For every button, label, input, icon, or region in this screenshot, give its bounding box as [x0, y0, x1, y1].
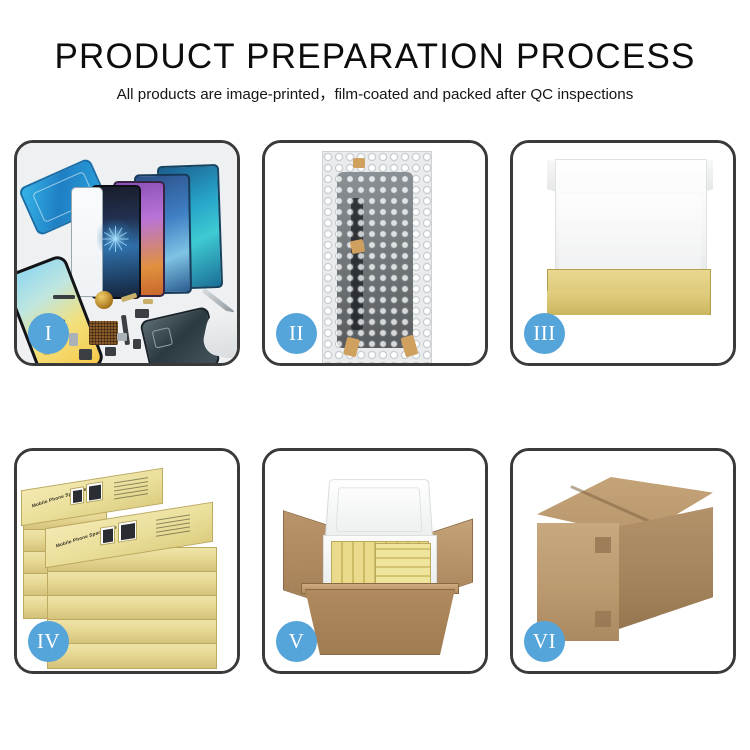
carton-tab-icon: [595, 537, 611, 553]
part-icon: [133, 339, 141, 349]
stacked-box-icon: [47, 595, 217, 621]
process-step-2: II: [262, 140, 488, 366]
product-preparation-infographic: PRODUCT PREPARATION PROCESS All products…: [0, 0, 750, 750]
carton-front-icon: [305, 589, 455, 655]
tape-icon: [353, 158, 365, 168]
process-step-4: Mobile Phone Spare Parts Mobile Phone Sp…: [14, 448, 240, 674]
speaker-component-icon: [95, 291, 113, 309]
header: PRODUCT PREPARATION PROCESS All products…: [0, 36, 750, 105]
foam-lid-icon: [325, 479, 434, 541]
product-swatch-icon: [118, 520, 137, 543]
tape-icon: [343, 337, 360, 358]
chip-grid-component-icon: [89, 321, 118, 345]
kraft-box-front-icon: [547, 291, 709, 315]
product-swatch-icon: [100, 525, 115, 545]
part-icon: [105, 347, 116, 356]
packed-boxes-icon: [375, 543, 431, 585]
carton-side-face-icon: [619, 507, 713, 629]
process-step-5: V: [262, 448, 488, 674]
part-icon: [143, 299, 153, 304]
bubble-wrap-package-icon: [322, 151, 432, 363]
step-badge-6: VI: [524, 621, 565, 662]
step-badge-3: III: [524, 313, 565, 354]
foam-sheet-icon: [559, 195, 701, 273]
tape-icon: [350, 239, 365, 254]
part-icon: [117, 333, 127, 341]
step-badge-1: I: [28, 313, 69, 354]
carton-tab-icon: [595, 611, 611, 627]
screen-burst-graphic: [97, 213, 133, 265]
page-title: PRODUCT PREPARATION PROCESS: [0, 36, 750, 78]
part-icon: [53, 295, 75, 299]
part-icon: [79, 349, 92, 360]
flex-cable-icon: [351, 198, 363, 330]
product-swatch-icon: [70, 486, 84, 505]
process-grid: I II: [14, 140, 737, 674]
process-step-6: VI: [510, 448, 736, 674]
process-step-3: III: [510, 140, 736, 366]
step-badge-2: II: [276, 313, 317, 354]
tape-icon: [400, 335, 418, 358]
stacked-box-icon: [47, 619, 217, 645]
step-badge-5: V: [276, 621, 317, 662]
stacked-box-icon: [47, 571, 217, 597]
stacked-box-icon: [47, 643, 217, 669]
product-swatch-icon: [86, 481, 103, 503]
part-icon: [135, 309, 149, 318]
step-badge-4: IV: [28, 621, 69, 662]
wrapped-screen-icon: [337, 172, 413, 348]
page-subtitle: All products are image-printed，film-coat…: [0, 85, 750, 105]
process-step-1: I: [14, 140, 240, 366]
part-icon: [69, 333, 78, 346]
